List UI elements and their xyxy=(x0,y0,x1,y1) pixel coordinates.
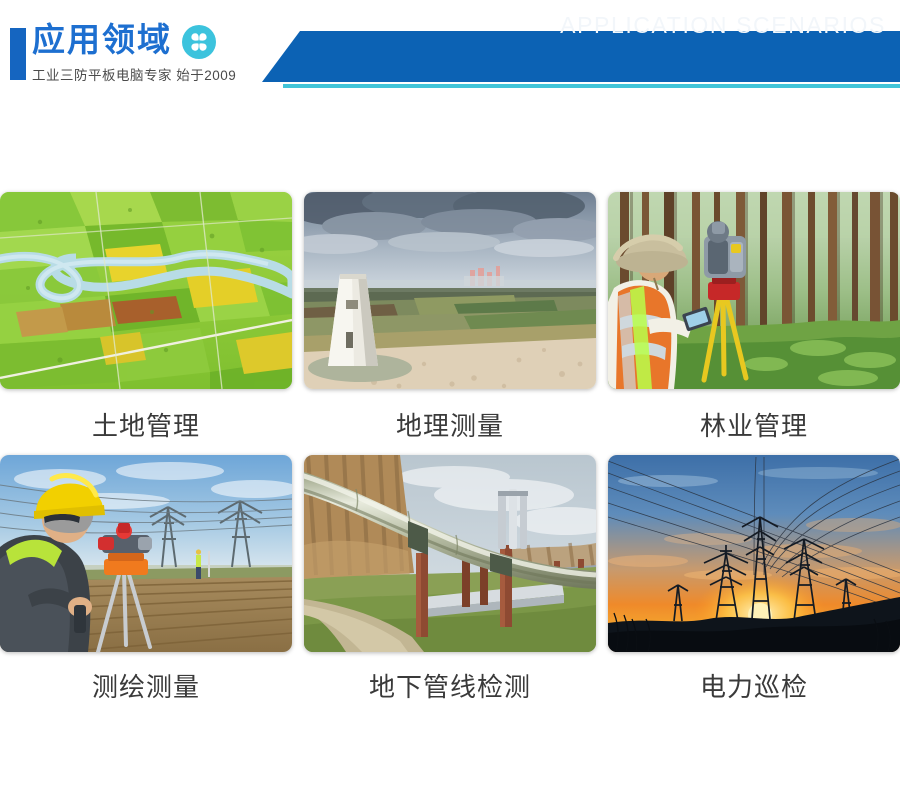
scenario-caption: 电力巡检 xyxy=(608,672,900,702)
banner-underline xyxy=(283,84,900,88)
page-title: 应用领域 xyxy=(32,20,172,60)
trig-point-hilltop-photo xyxy=(304,192,596,389)
scenario-caption: 林业管理 xyxy=(608,411,900,441)
scenario-grid: 土地管理 xyxy=(0,192,900,702)
scenario-card-forestry-management[interactable]: 林业管理 xyxy=(608,192,900,441)
scenario-card-pipeline-detection[interactable]: 地下管线检测 xyxy=(304,455,596,702)
header-title-block: 应用领域 工业三防平板电脑专家 始于2009 xyxy=(32,20,292,84)
scenario-card-power-inspection[interactable]: 电力巡检 xyxy=(608,455,900,702)
header-accent-bar xyxy=(10,28,26,80)
banner-title: APPLICATION SCENARIOS xyxy=(560,0,886,51)
scenario-card-surveying-mapping[interactable]: 测绘测量 xyxy=(0,455,292,702)
scenario-row-2: 测绘测量 xyxy=(0,455,900,702)
scenario-caption: 土地管理 xyxy=(0,411,292,441)
scenario-caption: 地下管线检测 xyxy=(304,672,596,702)
scenario-caption: 地理测量 xyxy=(304,411,596,441)
aerial-farmland-river-photo xyxy=(0,192,292,389)
scenario-card-geographic-survey[interactable]: 地理测量 xyxy=(304,192,596,441)
page-header: 应用领域 工业三防平板电脑专家 始于2009 APPLICATION SCENA… xyxy=(0,0,900,110)
field-surveyor-level-photo xyxy=(0,455,292,652)
elevated-pipeline-photo xyxy=(304,455,596,652)
scenario-caption: 测绘测量 xyxy=(0,672,292,702)
forest-surveyor-scanner-photo xyxy=(608,192,900,389)
page-subtitle: 工业三防平板电脑专家 始于2009 xyxy=(32,64,292,84)
clover-flower-icon xyxy=(182,25,216,59)
scenario-row-1: 土地管理 xyxy=(0,192,900,441)
scenario-card-land-management[interactable]: 土地管理 xyxy=(0,192,292,441)
power-pylons-sunset-photo xyxy=(608,455,900,652)
header-title-row: 应用领域 xyxy=(32,20,292,60)
